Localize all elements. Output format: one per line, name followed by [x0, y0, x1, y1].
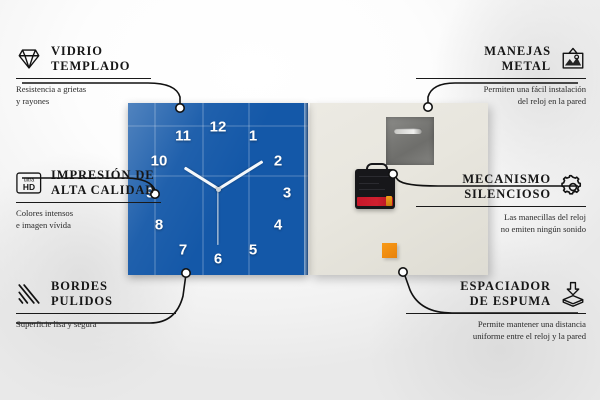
foam-spacer: [382, 243, 397, 258]
feature-description: Resistencia a grietas y rayones: [16, 83, 151, 107]
quartz-movement: [355, 169, 395, 209]
feature-vidrio-templado: VIDRIO TEMPLADO Resistencia a grietas y …: [16, 44, 151, 107]
feature-divider: [16, 313, 176, 314]
print-grid-line: [202, 103, 204, 275]
feature-description: Las manecillas del reloj no emiten ningú…: [416, 211, 586, 235]
clock-center-hub: [216, 187, 221, 192]
feature-title-line2: ALTA CALIDAD: [51, 183, 155, 198]
clock-numeral-1: 1: [249, 129, 257, 144]
feature-title-line2: METAL: [484, 59, 551, 74]
feature-divider: [416, 206, 586, 207]
feature-description: Colores intensos e imagen vívida: [16, 207, 161, 231]
clock-numeral-7: 7: [179, 243, 187, 258]
feature-espaciador-espuma: ESPACIADOR DE ESPUMA Permite mantener un…: [406, 279, 586, 342]
feature-divider: [16, 202, 161, 203]
hanger-slot: [394, 128, 422, 134]
glass-edge: [304, 103, 308, 275]
metal-hanger-plate: [386, 117, 434, 165]
diamond-icon: [16, 46, 42, 72]
clock-numeral-2: 2: [274, 154, 282, 169]
feature-title-line2: TEMPLADO: [51, 59, 130, 74]
feature-title-line1: VIDRIO: [51, 44, 130, 59]
feature-title-line1: MECANISMO: [462, 172, 551, 187]
ultra-hd-icon: ultra HD: [16, 170, 42, 196]
feature-title-line1: ESPACIADOR: [460, 279, 551, 294]
feature-divider: [16, 78, 151, 79]
battery-cell: [386, 196, 392, 206]
feature-description: Permiten una fácil instalación del reloj…: [416, 83, 586, 107]
feature-title-line2: DE ESPUMA: [460, 294, 551, 309]
feature-mecanismo-silencioso: MECANISMO SILENCIOSO Las manecillas del …: [416, 172, 586, 235]
feature-divider: [406, 313, 586, 314]
movement-detail: [359, 176, 389, 177]
feature-description: Superficie lisa y segura: [16, 318, 176, 330]
feature-manejas-metal: MANEJAS METAL Permiten una fácil instala…: [416, 44, 586, 107]
polished-edges-icon: [16, 281, 42, 307]
feature-title-line1: MANEJAS: [484, 44, 551, 59]
feature-title-line2: SILENCIOSO: [462, 187, 551, 202]
gear-icon: [560, 174, 586, 200]
clock-numeral-3: 3: [283, 186, 291, 201]
feature-bordes-pulidos: BORDES PULIDOS Superficie lisa y segura: [16, 279, 176, 330]
clock-numeral-5: 5: [249, 243, 257, 258]
picture-hanger-icon: [560, 46, 586, 72]
foam-spacer-icon: [560, 281, 586, 307]
feature-title-line1: IMPRESIÓN DE: [51, 168, 155, 183]
feature-title-line2: PULIDOS: [51, 294, 113, 309]
clock-numeral-6: 6: [214, 252, 222, 267]
infographic-canvas: 12 1 2 3 4 5 6 7 8 9 10 11: [0, 0, 600, 400]
clock-numeral-12: 12: [210, 120, 227, 135]
clock-numeral-4: 4: [274, 218, 282, 233]
feature-description: Permite mantener una distancia uniforme …: [406, 318, 586, 342]
movement-hanging-loop: [366, 163, 388, 174]
movement-detail: [359, 189, 385, 190]
clock-numeral-10: 10: [151, 154, 168, 169]
svg-text:HD: HD: [23, 182, 35, 192]
clock-numeral-11: 11: [175, 129, 191, 144]
feature-divider: [416, 78, 586, 79]
movement-detail: [359, 183, 379, 184]
feature-title-line1: BORDES: [51, 279, 113, 294]
feature-impresion-alta-calidad: ultra HD IMPRESIÓN DE ALTA CALIDAD Color…: [16, 168, 161, 231]
